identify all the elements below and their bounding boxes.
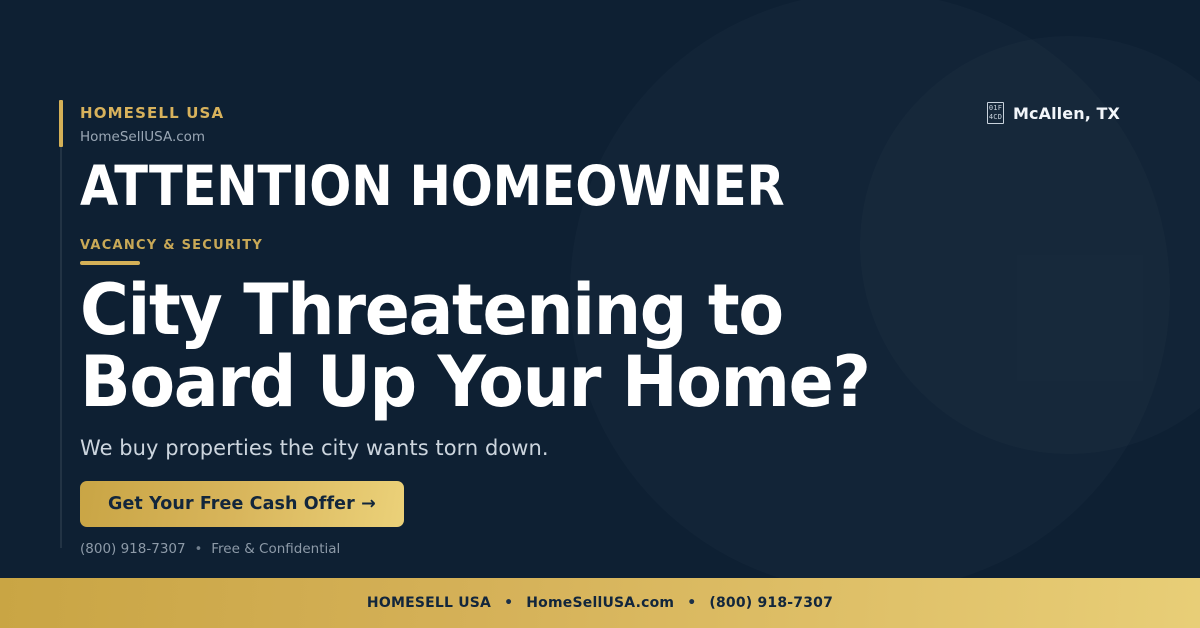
brand-website: HomeSellUSA.com <box>80 129 224 147</box>
left-rail-line <box>60 100 62 548</box>
location-badge: 01F 4CD McAllen, TX <box>987 102 1120 124</box>
brand-block: HOMESELL USA HomeSellUSA.com <box>80 104 224 146</box>
brand-name: HOMESELL USA <box>80 104 224 123</box>
contact-separator: • <box>195 542 203 557</box>
footer-bar: HOMESELL USA • HomeSellUSA.com • (800) 9… <box>0 578 1200 628</box>
headline: City Threatening to Board Up Your Home? <box>80 274 897 418</box>
map-pin-icon: 01F 4CD <box>987 102 1004 124</box>
kicker-text: ATTENTION HOMEOWNER <box>80 157 785 215</box>
footer-separator-2: • <box>687 595 696 611</box>
ad-creative-canvas: HOMESELL USA HomeSellUSA.com 01F 4CD McA… <box>0 0 1200 628</box>
map-pin-icon-codepoint-low: 4CD <box>989 113 1002 122</box>
footer-phone[interactable]: (800) 918-7307 <box>709 595 833 611</box>
footer-website[interactable]: HomeSellUSA.com <box>526 595 674 611</box>
eyebrow-rule <box>80 261 140 265</box>
contact-phone[interactable]: (800) 918-7307 <box>80 541 186 557</box>
headline-line-1: City Threatening to <box>80 274 897 346</box>
contact-line: (800) 918-7307 • Free & Confidential <box>80 541 340 557</box>
footer-separator-1: • <box>504 595 513 611</box>
cta-button[interactable]: Get Your Free Cash Offer → <box>80 481 404 527</box>
location-label: McAllen, TX <box>1013 104 1120 123</box>
eyebrow-label: VACANCY & SECURITY <box>80 238 263 253</box>
left-rail-accent <box>59 100 63 147</box>
footer-brand: HOMESELL USA <box>367 595 491 611</box>
contact-note: Free & Confidential <box>211 541 340 557</box>
subheadline: We buy properties the city wants torn do… <box>80 436 549 460</box>
hero-content: HOMESELL USA HomeSellUSA.com 01F 4CD McA… <box>80 0 1120 578</box>
headline-line-2: Board Up Your Home? <box>80 346 897 418</box>
map-pin-icon-codepoint-high: 01F <box>989 104 1002 113</box>
